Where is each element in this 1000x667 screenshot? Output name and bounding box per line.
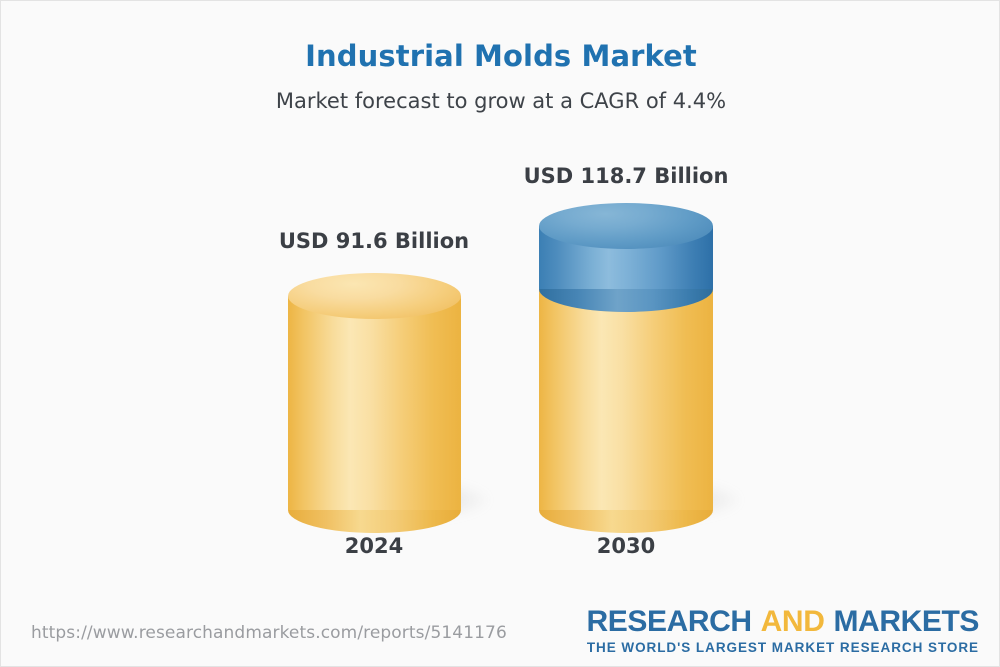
footer: https://www.researchandmarkets.com/repor… xyxy=(1,599,1000,666)
cylinder-body-base-2030 xyxy=(539,289,713,510)
bar-group-2030: USD 118.7 Billion 2030 xyxy=(456,1,796,601)
logo-wordmark: RESEARCHANDMARKETS xyxy=(587,607,979,637)
cylinder-2030 xyxy=(539,203,713,511)
logo-tagline: THE WORLD'S LARGEST MARKET RESEARCH STOR… xyxy=(587,640,979,655)
logo-word-and: AND xyxy=(761,605,825,638)
logo-word-research: RESEARCH xyxy=(587,605,752,638)
cylinder-top-ellipse-2024 xyxy=(288,273,461,319)
cylinder-segment-base-2024 xyxy=(288,273,461,511)
brand-logo[interactable]: RESEARCHANDMARKETS THE WORLD'S LARGEST M… xyxy=(587,607,979,655)
bar-category-label-2030: 2030 xyxy=(456,534,796,558)
chart-canvas: Industrial Molds Market Market forecast … xyxy=(0,0,1000,667)
plot-area: USD 91.6 Billion 2024 USD 118.7 Billion xyxy=(1,1,1000,601)
cylinder-body-2024 xyxy=(288,296,461,510)
logo-word-markets: MARKETS xyxy=(833,605,979,638)
cylinder-2024 xyxy=(288,273,461,511)
source-url-link[interactable]: https://www.researchandmarkets.com/repor… xyxy=(31,623,507,643)
cylinder-segment-growth-2030 xyxy=(539,203,713,312)
cylinder-growth-top-ellipse-2030 xyxy=(539,203,713,249)
bar-value-label-2030: USD 118.7 Billion xyxy=(456,164,796,188)
